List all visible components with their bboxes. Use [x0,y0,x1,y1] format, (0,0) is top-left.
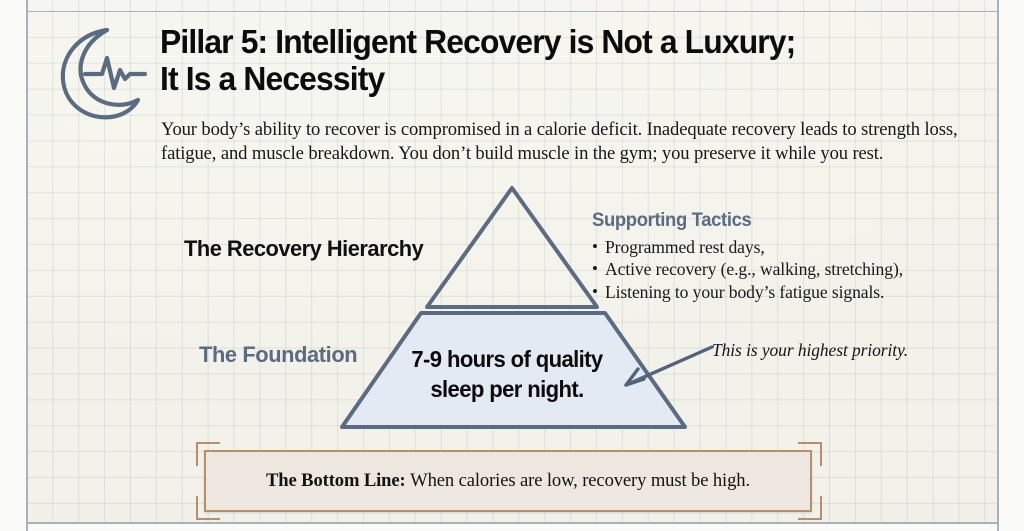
page-edge-right [999,0,1024,531]
bottom-line-callout: The Bottom Line: When calories are low, … [196,440,822,522]
bottom-line-label: The Bottom Line: [266,470,406,491]
supporting-tactics-list: Programmed rest days, Active recovery (e… [592,236,992,303]
margin-rule-left [26,0,28,531]
supporting-tactics-heading: Supporting Tactics [592,210,980,232]
slide-canvas: Pillar 5: Intelligent Recovery is Not a … [0,0,1024,531]
supporting-tactics-block: Supporting Tactics Programmed rest days,… [592,210,992,303]
list-item: Listening to your body’s fatigue signals… [592,281,992,303]
pyramid-bottom-tier-label: The Foundation [199,342,357,368]
list-item: Programmed rest days, [592,236,992,258]
margin-rule-bottom [26,522,998,524]
margin-rule-top [26,11,998,12]
page-edge-bottom [0,524,1024,531]
intro-paragraph: Your body’s ability to recover is compro… [161,118,973,165]
list-item: Active recovery (e.g., walking, stretchi… [592,258,992,280]
annotation-text: This is your highest priority. [712,340,908,361]
margin-rule-right [997,0,999,531]
page-title: Pillar 5: Intelligent Recovery is Not a … [160,24,980,98]
bottom-line-box: The Bottom Line: When calories are low, … [204,450,812,512]
page-edge-left [0,0,26,531]
bottom-line-text: The Bottom Line: When calories are low, … [266,470,750,492]
moon-pulse-icon [45,22,157,126]
title-line-2: It Is a Necessity [160,61,939,98]
pyramid-base-text: 7-9 hours of quality sleep per night. [387,344,627,404]
pyramid-top-tier-label: The Recovery Hierarchy [184,236,423,262]
annotation-arrow-icon [600,335,730,395]
title-line-1: Pillar 5: Intelligent Recovery is Not a … [160,24,939,61]
pyramid-apex-tier [427,188,597,307]
bottom-line-body: When calories are low, recovery must be … [410,470,750,491]
